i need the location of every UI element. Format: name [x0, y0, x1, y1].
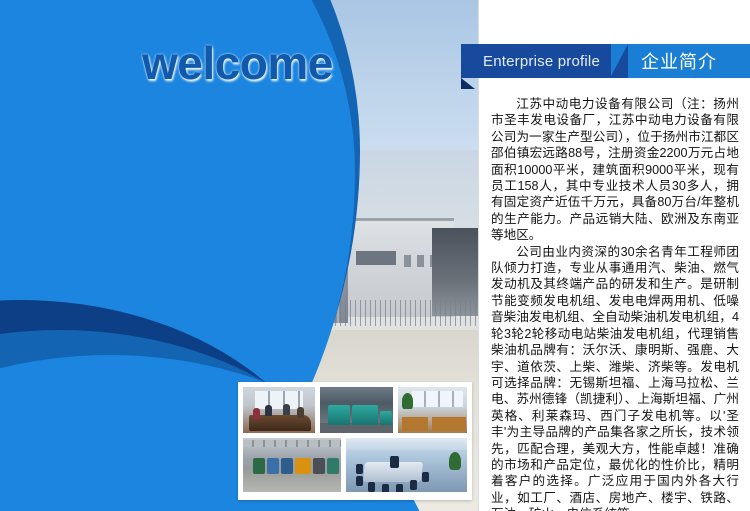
profile-paragraph-2: 公司由业内资深的30余名青年工程师团队倾力打造，专业从事通用汽、柴油、燃气发动机…: [491, 244, 739, 511]
conference-chair: [382, 484, 389, 493]
window-column: [251, 164, 262, 319]
window-column: [178, 155, 189, 310]
window-column: [269, 166, 280, 321]
collage-top-row: [242, 386, 468, 434]
section-ribbon-header: Enterprise profile 企业简介: [461, 44, 750, 78]
factory-generator-row-photo: [242, 437, 342, 493]
office-meeting-photo: [242, 386, 316, 434]
window-column: [196, 157, 207, 312]
person-figure: [253, 408, 260, 419]
warehouse-band: [356, 251, 396, 265]
conference-chair: [356, 476, 363, 486]
meeting-window: [255, 391, 303, 409]
photo-collage: [238, 382, 472, 500]
person-figure: [265, 405, 272, 416]
profile-content-panel: Enterprise profile 企业简介 江苏中动电力设备有限公司（注：扬…: [478, 0, 750, 511]
generator-unit: [281, 458, 293, 474]
conference-chair: [390, 456, 399, 468]
company-profile-banner: 中动电力 苏中动电力设备有限公司 Zhongdong Power Equipme…: [0, 0, 750, 511]
conference-plant: [449, 452, 461, 470]
generator-unit: [327, 458, 339, 474]
office-window: [412, 391, 463, 407]
generator-unit: [313, 458, 325, 474]
person-figure: [297, 407, 304, 418]
green-generator-workshop-photo: [319, 386, 394, 434]
office-desks-photo: [397, 386, 468, 434]
office-desk: [402, 417, 428, 431]
generator-unit: [253, 458, 265, 474]
building-logo-text: 中动电力: [198, 136, 238, 154]
profile-body: 江苏中动电力设备有限公司（注：扬州市圣丰发电设备厂，江苏中动电力设备有限公司为一…: [491, 96, 739, 511]
generator-unit: [380, 411, 392, 425]
conference-room-photo: [345, 437, 468, 493]
collage-bottom-row: [242, 437, 468, 493]
office-desk: [432, 417, 466, 431]
person-figure: [283, 404, 290, 415]
conference-chair: [422, 472, 429, 482]
conference-chair: [368, 482, 375, 492]
generator-unit: [352, 405, 378, 425]
window-column: [233, 161, 244, 316]
conference-ceiling: [346, 438, 467, 450]
window-column: [214, 159, 225, 314]
conference-chair: [396, 484, 403, 493]
generator-unit: [295, 458, 311, 474]
ribbon-english-title: Enterprise profile: [461, 44, 611, 78]
glass-tower: [296, 108, 348, 323]
factory-roof: [243, 440, 341, 447]
ribbon-fold-corner: [461, 78, 475, 89]
hero-visual-panel: 中动电力 苏中动电力设备有限公司 Zhongdong Power Equipme…: [0, 0, 478, 511]
generator-unit: [328, 405, 350, 425]
office-plant: [402, 393, 413, 409]
welcome-headline: welcome: [142, 36, 333, 90]
conference-chair: [356, 464, 363, 474]
ribbon-chinese-title: 企业简介: [611, 44, 750, 78]
profile-paragraph-1: 江苏中动电力设备有限公司（注：扬州市圣丰发电设备厂，江苏中动电力设备有限公司为一…: [491, 96, 739, 244]
generator-unit: [267, 458, 279, 474]
conference-chair: [410, 480, 417, 490]
